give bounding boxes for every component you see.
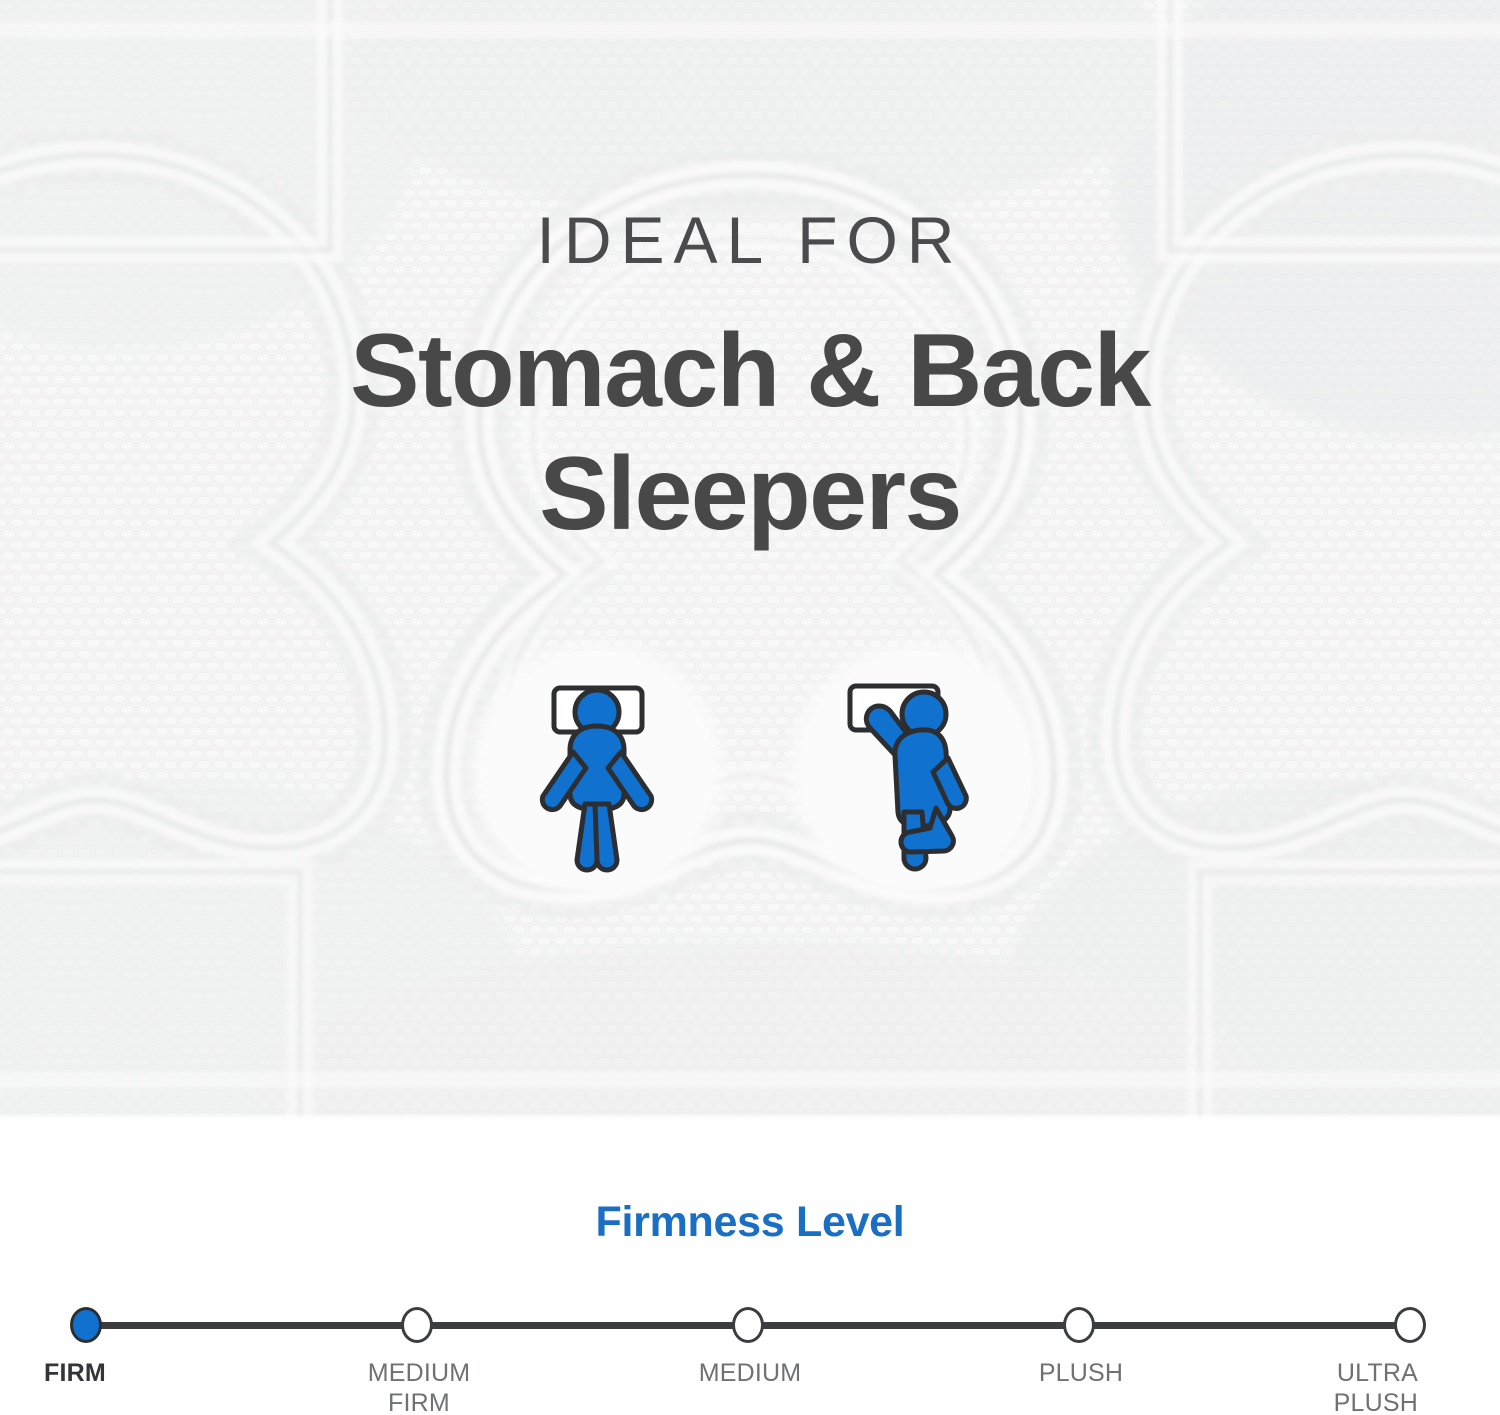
stomach-sleeper-badge	[800, 652, 1032, 890]
firmness-level-title: Firmness Level	[0, 1201, 1500, 1244]
firmness-label-medium-firm: MEDIUM FIRM	[289, 1359, 549, 1415]
back-sleeper-icon	[481, 652, 713, 890]
firmness-label-ultra-plush: ULTRA PLUSH	[1242, 1359, 1418, 1415]
firmness-dot-plush[interactable]	[1063, 1307, 1095, 1343]
firmness-level-section: Firmness Level FIRM MEDIUM FIRM MEDIUM P…	[0, 1121, 1500, 1415]
mattress-fabric-background	[0, 0, 1500, 1121]
firmness-dot-firm[interactable]	[70, 1307, 102, 1343]
firmness-label-medium: MEDIUM	[620, 1359, 880, 1389]
fabric-texture-graphic	[0, 0, 1500, 1121]
back-sleeper-badge	[481, 652, 713, 890]
firmness-scale-slider[interactable]: FIRM MEDIUM FIRM MEDIUM PLUSH ULTRA PLUS…	[0, 1297, 1500, 1415]
sleeper-icon-group	[0, 652, 1500, 892]
stomach-sleeper-figure	[866, 692, 966, 869]
firmness-dot-ultra-plush[interactable]	[1394, 1307, 1426, 1343]
stomach-sleeper-icon	[800, 652, 1032, 890]
product-feature-panel: IDEAL FOR Stomach & Back Sleepers	[0, 0, 1500, 1415]
firmness-dot-medium[interactable]	[732, 1307, 764, 1343]
firmness-dot-medium-firm[interactable]	[401, 1307, 433, 1343]
firmness-label-firm: FIRM	[44, 1359, 214, 1389]
firmness-label-plush: PLUSH	[951, 1359, 1211, 1389]
